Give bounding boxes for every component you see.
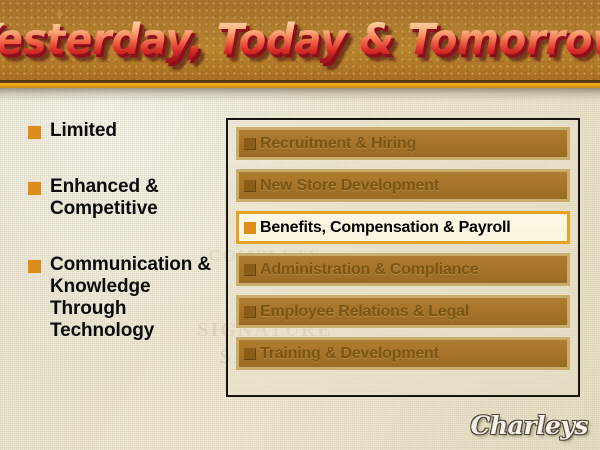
panel-row-recruitment-and-hiring[interactable]: Recruitment & Hiring bbox=[236, 127, 570, 160]
bullet-square-icon bbox=[244, 348, 256, 360]
panel-row-training-and-development[interactable]: Training & Development bbox=[236, 337, 570, 370]
bullet-square-icon bbox=[28, 182, 41, 195]
bullet-square-icon bbox=[244, 180, 256, 192]
bullet-square-icon bbox=[244, 264, 256, 276]
page-title: Yesterday, Today & Tomorrow bbox=[0, 0, 600, 80]
bullet-square-icon bbox=[28, 126, 41, 139]
hr-function-panel: Recruitment & Hiring New Store Developme… bbox=[226, 118, 580, 397]
bullet-square-icon bbox=[244, 222, 256, 234]
list-item-label: Enhanced & Competitive bbox=[50, 176, 223, 220]
panel-row-new-store-development[interactable]: New Store Development bbox=[236, 169, 570, 202]
bullet-list: Limited Enhanced & Competitive Communica… bbox=[28, 120, 223, 342]
panel-row-label: Administration & Compliance bbox=[260, 261, 479, 279]
list-item: Limited bbox=[28, 120, 223, 142]
header-drop-shadow bbox=[0, 88, 600, 102]
panel-row-employee-relations-and-legal[interactable]: Employee Relations & Legal bbox=[236, 295, 570, 328]
page-title-text: Yesterday, Today & Tomorrow bbox=[0, 15, 600, 65]
panel-row-label: Employee Relations & Legal bbox=[260, 303, 469, 321]
bullet-square-icon bbox=[244, 138, 256, 150]
bullet-square-icon bbox=[244, 306, 256, 318]
brand-logo: Charleys bbox=[468, 408, 588, 442]
list-item-label: Limited bbox=[50, 120, 117, 142]
list-item-label: Communication & Knowledge Through Techno… bbox=[50, 254, 223, 342]
brand-logo-text: Charleys bbox=[471, 411, 588, 440]
panel-row-label: New Store Development bbox=[260, 177, 439, 195]
slide: COMPLETE LINE SIGNATURE SALADS Yesterday… bbox=[0, 0, 600, 450]
bullet-square-icon bbox=[28, 260, 41, 273]
panel-row-benefits-compensation-and-payroll[interactable]: Benefits, Compensation & Payroll bbox=[236, 211, 570, 244]
panel-row-label: Training & Development bbox=[260, 345, 439, 363]
panel-row-label: Benefits, Compensation & Payroll bbox=[260, 219, 511, 237]
panel-row-administration-and-compliance[interactable]: Administration & Compliance bbox=[236, 253, 570, 286]
list-item: Communication & Knowledge Through Techno… bbox=[28, 254, 223, 342]
list-item: Enhanced & Competitive bbox=[28, 176, 223, 220]
panel-row-label: Recruitment & Hiring bbox=[260, 135, 416, 153]
